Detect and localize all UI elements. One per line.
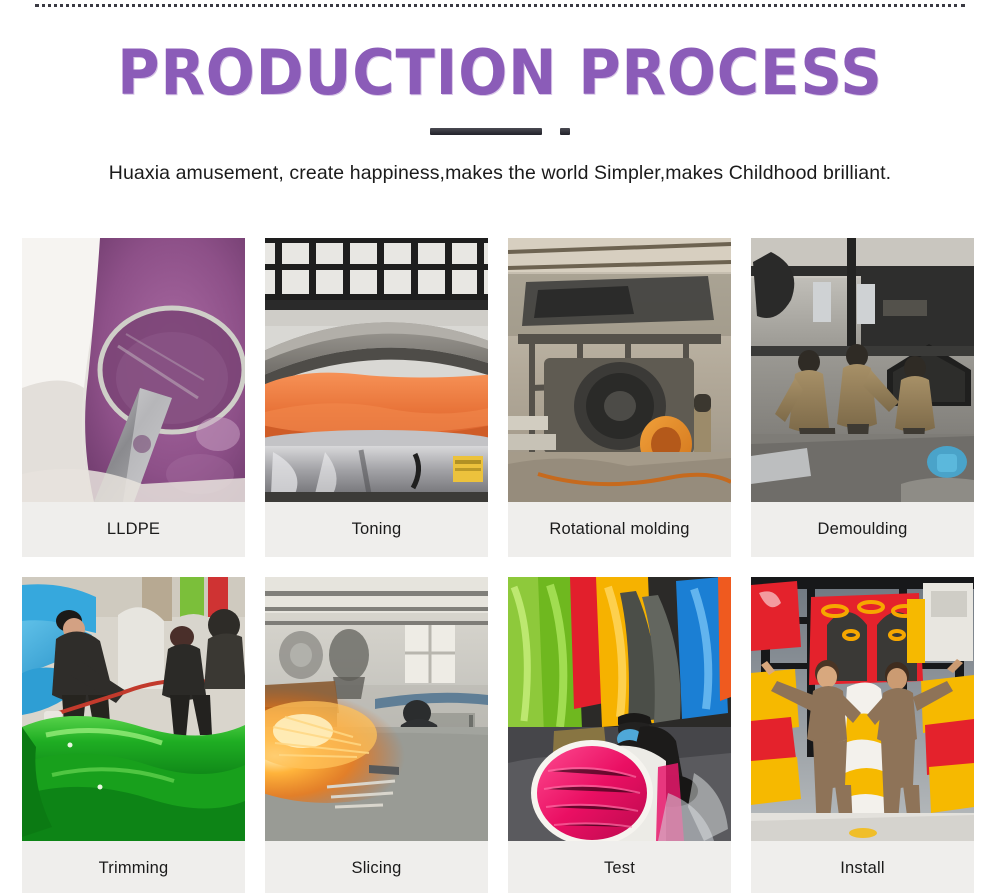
top-dotted-divider <box>35 4 965 7</box>
process-step-caption: Rotational molding <box>508 502 731 557</box>
process-step-caption: Install <box>751 841 974 893</box>
process-step-card[interactable]: Demoulding <box>751 238 974 557</box>
page-subtitle: Huaxia amusement, create happiness,makes… <box>0 162 1000 185</box>
process-step-label: Test <box>604 859 635 878</box>
process-step-label: Slicing <box>351 859 401 878</box>
trimming-green-slide-photo <box>22 577 245 841</box>
test-assembly-photo <box>508 577 731 841</box>
process-step-card[interactable]: Test <box>508 577 731 893</box>
lldpe-raw-material-photo <box>22 238 245 502</box>
process-step-card[interactable]: Install <box>751 577 974 893</box>
process-step-card[interactable]: Toning <box>265 238 488 557</box>
install-playground-photo <box>751 577 974 841</box>
process-step-label: Rotational molding <box>549 520 689 539</box>
process-step-card[interactable]: Slicing <box>265 577 488 893</box>
process-step-caption: Slicing <box>265 841 488 893</box>
divider-dot <box>560 128 570 135</box>
rotational-molding-machine-photo <box>508 238 731 502</box>
process-step-label: Toning <box>352 520 402 539</box>
process-step-caption: LLDPE <box>22 502 245 557</box>
process-step-caption: Demoulding <box>751 502 974 557</box>
process-step-card[interactable]: LLDPE <box>22 238 245 557</box>
slicing-sparks-photo <box>265 577 488 841</box>
process-step-card[interactable]: Rotational molding <box>508 238 731 557</box>
process-step-label: Trimming <box>99 859 169 878</box>
demoulding-workers-photo <box>751 238 974 502</box>
page-title: PRODUCTION PROCESS <box>35 40 965 105</box>
process-step-card[interactable]: Trimming <box>22 577 245 893</box>
toning-mixing-drum-photo <box>265 238 488 502</box>
divider-bar <box>430 128 542 135</box>
production-process-page: PRODUCTION PROCESS Huaxia amusement, cre… <box>0 0 1000 893</box>
page-header: PRODUCTION PROCESS Huaxia amusement, cre… <box>0 40 1000 185</box>
process-step-caption: Test <box>508 841 731 893</box>
title-underline-divider <box>430 127 570 136</box>
process-step-label: LLDPE <box>107 520 160 539</box>
process-step-label: Demoulding <box>817 520 907 539</box>
process-step-caption: Toning <box>265 502 488 557</box>
process-step-label: Install <box>840 859 885 878</box>
process-step-grid: LLDPE <box>22 238 978 893</box>
process-step-caption: Trimming <box>22 841 245 893</box>
